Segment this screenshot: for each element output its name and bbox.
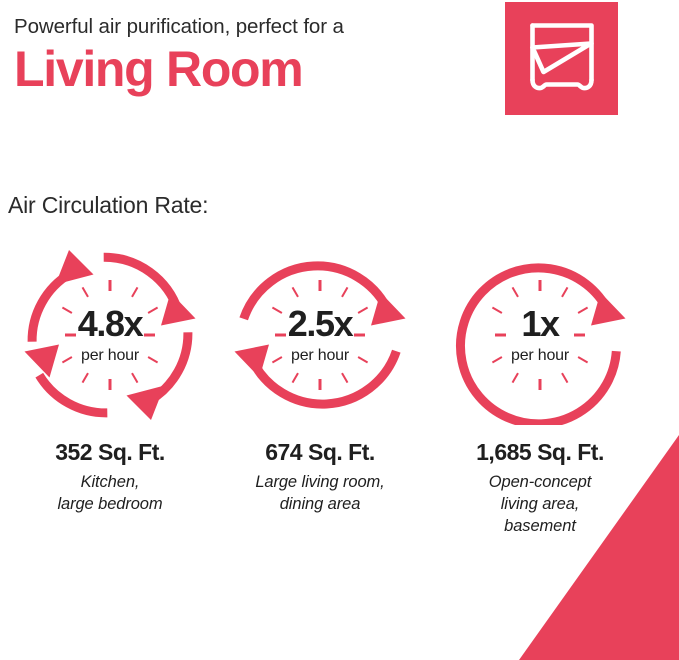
area-description-line: Open-concept: [432, 472, 648, 494]
dial-1-label: 4.8x per hour: [20, 245, 200, 425]
rate-column-2: 2.5x per hour 674 Sq. Ft. Large living r…: [212, 245, 428, 516]
page-title: Living Room: [14, 42, 494, 96]
dial-2-label: 2.5x per hour: [230, 245, 410, 425]
dial-3-label: 1x per hour: [450, 245, 630, 425]
rate-unit: per hour: [511, 348, 569, 364]
area-value: 1,685 Sq. Ft.: [432, 440, 648, 465]
dial-1: 4.8x per hour: [20, 245, 200, 425]
dial-2: 2.5x per hour: [230, 245, 410, 425]
rate-value: 1x: [521, 306, 558, 342]
area-description: Kitchen, large bedroom: [2, 472, 218, 516]
header: Powerful air purification, perfect for a…: [14, 14, 494, 96]
area-description: Open-concept living area, basement: [432, 472, 648, 537]
area-description-line: Kitchen,: [2, 472, 218, 494]
area-description-line: living area,: [432, 494, 648, 516]
area-description: Large living room, dining area: [212, 472, 428, 516]
area-description-line: dining area: [212, 494, 428, 516]
rate-unit: per hour: [291, 348, 349, 364]
kicker-text: Powerful air purification, perfect for a: [14, 14, 494, 40]
rate-value: 2.5x: [288, 306, 352, 342]
area-value: 674 Sq. Ft.: [212, 440, 428, 465]
section-title: Air Circulation Rate:: [8, 192, 208, 219]
rate-column-3: 1x per hour 1,685 Sq. Ft. Open-concept l…: [432, 245, 648, 538]
area-value: 352 Sq. Ft.: [2, 440, 218, 465]
room-type-badge: [505, 2, 618, 115]
rate-value: 4.8x: [78, 306, 142, 342]
rate-column-1: 4.8x per hour 352 Sq. Ft. Kitchen, large…: [2, 245, 218, 516]
rate-unit: per hour: [81, 348, 139, 364]
area-description-line: large bedroom: [2, 494, 218, 516]
rate-columns: 4.8x per hour 352 Sq. Ft. Kitchen, large…: [0, 245, 679, 545]
area-description-line: Large living room,: [212, 472, 428, 494]
infographic-page: Powerful air purification, perfect for a…: [0, 0, 679, 660]
sofa-icon: [505, 2, 618, 115]
area-description-line: basement: [432, 516, 648, 538]
dial-3: 1x per hour: [450, 245, 630, 425]
